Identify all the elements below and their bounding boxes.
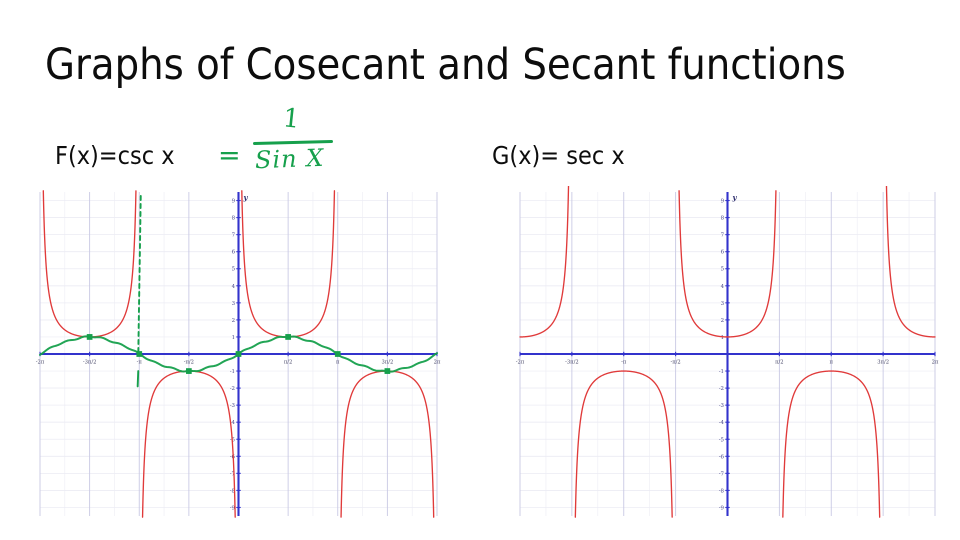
- sec-graph-panel: y-2π-3π/2-π-π/2π/2π3π/22π-9-8-7-6-5-4-3-…: [510, 186, 943, 522]
- svg-text:8: 8: [232, 216, 236, 222]
- svg-text:2π: 2π: [932, 360, 939, 366]
- ink-denominator: Sin X: [255, 144, 325, 174]
- svg-text:-2: -2: [719, 386, 724, 392]
- svg-text:1: 1: [721, 335, 724, 341]
- left-function-label: F(x)=csc x: [55, 141, 175, 170]
- ink-equals-sign: =: [218, 140, 241, 171]
- svg-text:3π/2: 3π/2: [381, 360, 393, 366]
- svg-text:2: 2: [232, 318, 235, 324]
- svg-text:1: 1: [232, 335, 235, 341]
- svg-text:6: 6: [721, 250, 725, 256]
- svg-text:5: 5: [232, 267, 236, 273]
- svg-text:3: 3: [721, 301, 725, 307]
- svg-text:8: 8: [721, 216, 725, 222]
- svg-text:-9: -9: [719, 505, 725, 511]
- sec-graph-svg: y-2π-3π/2-π-π/2π/2π3π/22π-9-8-7-6-5-4-3-…: [510, 186, 943, 522]
- svg-text:π/2: π/2: [284, 360, 292, 366]
- svg-text:-π/2: -π/2: [184, 360, 194, 366]
- svg-text:3: 3: [232, 301, 236, 307]
- svg-text:7: 7: [721, 233, 725, 239]
- svg-text:-π: -π: [137, 360, 143, 366]
- svg-text:-7: -7: [719, 471, 725, 477]
- svg-text:π/2: π/2: [775, 360, 783, 366]
- csc-graph-panel: y-2π-3π/2-π-π/2π/2π3π/22π-9-8-7-6-5-4-3-…: [31, 186, 443, 522]
- svg-text:9: 9: [232, 199, 236, 205]
- svg-text:2π: 2π: [434, 360, 441, 366]
- svg-text:-4: -4: [719, 420, 725, 426]
- right-function-label: G(x)= sec x: [492, 141, 625, 170]
- svg-text:-π: -π: [621, 360, 627, 366]
- svg-text:9: 9: [721, 199, 725, 205]
- svg-text:π: π: [830, 360, 834, 366]
- svg-text:3π/2: 3π/2: [877, 360, 889, 366]
- svg-text:4: 4: [721, 284, 725, 290]
- svg-text:-2π: -2π: [516, 360, 525, 366]
- ink-numerator: 1: [281, 103, 301, 135]
- svg-text:-π/2: -π/2: [671, 360, 681, 366]
- svg-text:4: 4: [232, 284, 236, 290]
- csc-graph-svg: y-2π-3π/2-π-π/2π/2π3π/22π-9-8-7-6-5-4-3-…: [31, 186, 443, 522]
- svg-text:-3: -3: [719, 403, 725, 409]
- svg-text:6: 6: [232, 250, 236, 256]
- svg-text:-2: -2: [230, 386, 235, 392]
- svg-text:-6: -6: [719, 454, 725, 460]
- svg-text:-8: -8: [719, 488, 725, 494]
- svg-text:7: 7: [232, 233, 236, 239]
- svg-text:-2π: -2π: [36, 360, 45, 366]
- svg-text:-5: -5: [719, 437, 725, 443]
- ink-fraction-bar: [253, 140, 333, 145]
- svg-text:-1: -1: [230, 369, 235, 375]
- svg-text:-1: -1: [719, 369, 724, 375]
- slide-canvas: Graphs of Cosecant and Secant functions …: [0, 0, 960, 540]
- svg-text:2: 2: [721, 318, 724, 324]
- svg-text:5: 5: [721, 267, 725, 273]
- svg-text:-3π/2: -3π/2: [83, 360, 97, 366]
- svg-text:π: π: [336, 360, 340, 366]
- svg-text:-3π/2: -3π/2: [565, 360, 579, 366]
- page-title: Graphs of Cosecant and Secant functions: [45, 40, 935, 90]
- svg-text:-3: -3: [230, 403, 236, 409]
